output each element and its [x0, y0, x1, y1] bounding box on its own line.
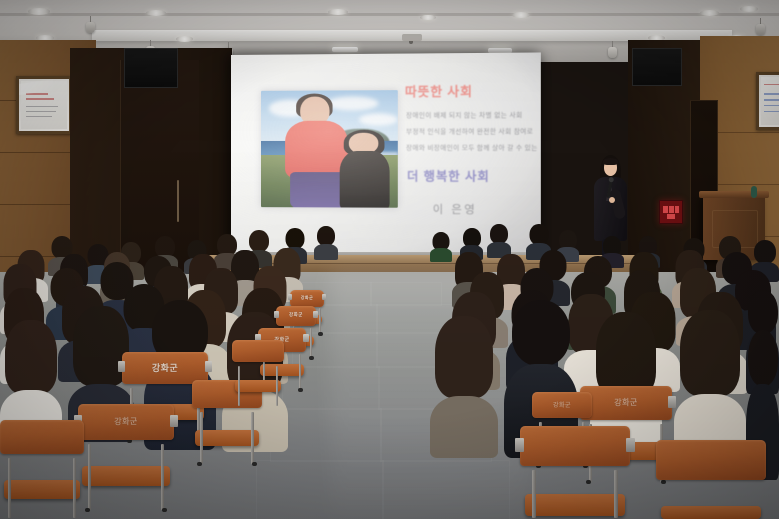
speaker-right: [632, 48, 682, 86]
chair[interactable]: 강화군: [78, 404, 174, 514]
chair-back: 강화군: [78, 404, 174, 440]
chair[interactable]: [0, 420, 84, 519]
chair-back: 강화군: [532, 392, 592, 418]
chair-label: 강화군: [276, 312, 316, 318]
chair-label: 강화군: [580, 397, 672, 408]
chair-label: 강화군: [532, 400, 592, 409]
slide-photo: [261, 90, 398, 208]
notice-frame-right: [756, 72, 779, 130]
chair-back: 강화군: [290, 290, 324, 307]
chair-label: 강화군: [122, 361, 208, 374]
slide-presenter-name: 이 은영: [433, 201, 477, 217]
emergency-equipment-sign: [659, 200, 683, 224]
ceiling-downlight: [28, 8, 50, 15]
ceiling-downlight: [420, 15, 436, 20]
chair[interactable]: [232, 340, 284, 410]
photo-softness: [261, 90, 398, 208]
slide-body: 장애인이 배제 되지 않는 차별 없는 사회 부정적 인식을 개선하여 완전한 …: [406, 108, 538, 157]
chair-label: 강화군: [78, 416, 174, 427]
chair-back: 강화군: [580, 386, 672, 420]
ceiling-band: [0, 13, 779, 16]
chair-label: 강화군: [290, 295, 324, 301]
ceiling-projector: [402, 34, 422, 41]
ceiling-downlight: [740, 6, 758, 12]
door-handle[interactable]: [177, 180, 179, 222]
ceiling-downlight: [700, 10, 719, 16]
speaker-left: [124, 48, 178, 88]
lecture-hall-photo: 따뜻한 사회 장애인이 배제 되지 않는 차별 없는 사회 부정적 인식을 개선…: [0, 0, 779, 519]
notice-sheet: [761, 77, 779, 125]
podium-microphone: [751, 186, 757, 198]
chair-back: [656, 440, 766, 480]
slide-subtitle: 더 행복한 사회: [407, 167, 490, 184]
ceiling-downlight: [328, 9, 348, 15]
notice-frame-left: [16, 76, 72, 134]
slide-title: 따뜻한 사회: [405, 81, 473, 101]
chair-back: 강화군: [276, 306, 316, 326]
audience-member: [430, 232, 452, 262]
chair-back: [0, 420, 84, 454]
chair-back: [232, 340, 284, 362]
audience-member: [487, 224, 511, 258]
slide-body-line: 부정적 인식을 개선하여 완전한 사회 참여로: [406, 124, 538, 141]
track-spotlight: [608, 41, 617, 58]
audience-member: [674, 310, 746, 460]
ceiling-downlight: [176, 36, 193, 42]
presenter-hand: [609, 197, 615, 203]
slide-body-line: 장애와 비장애인이 모두 함께 살아 갈 수 있는: [406, 141, 538, 157]
ceiling-downlight: [512, 12, 530, 18]
chair[interactable]: [520, 426, 630, 519]
chair[interactable]: [656, 440, 766, 519]
chair-back: [520, 426, 630, 466]
slide-body-line: 장애인이 배제 되지 않는 차별 없는 사회: [406, 108, 538, 125]
ceiling-downlight: [146, 10, 166, 16]
audience-member: [430, 316, 498, 458]
audience-member: [314, 226, 338, 260]
track-spotlight: [756, 18, 765, 35]
track-spotlight: [86, 16, 95, 33]
presenter-fringe: [603, 158, 618, 165]
